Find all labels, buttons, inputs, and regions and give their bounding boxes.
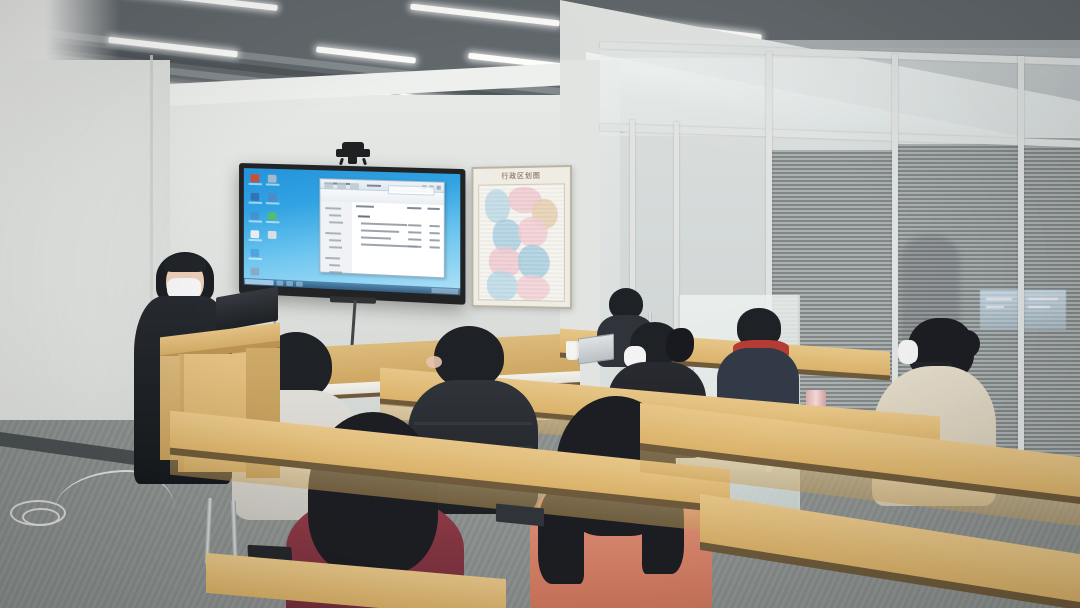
close-icon[interactable] xyxy=(436,185,440,189)
hair-bun xyxy=(954,330,980,358)
folder-icon[interactable] xyxy=(251,211,260,219)
start-button[interactable] xyxy=(245,279,274,285)
hair xyxy=(164,254,206,272)
computer-icon[interactable] xyxy=(251,174,260,182)
tv-screen xyxy=(244,168,460,295)
settings-icon[interactable] xyxy=(268,231,277,239)
media-icon[interactable] xyxy=(251,249,260,257)
ear xyxy=(426,356,442,368)
wall-map-poster: 行政区划图 xyxy=(472,165,572,309)
floor-cable xyxy=(22,508,60,526)
map-title: 行政区划图 xyxy=(473,170,570,183)
wall-mounted-tv xyxy=(239,163,465,305)
training-desk xyxy=(206,566,506,608)
partition-frame-vertical xyxy=(1018,56,1024,476)
app-icon[interactable] xyxy=(268,193,277,201)
ponytail xyxy=(666,328,694,362)
taskbar-item[interactable] xyxy=(296,281,303,286)
map-graphic xyxy=(478,183,565,302)
recycle-bin-icon[interactable] xyxy=(268,175,277,183)
glass-pane-upper xyxy=(600,58,1080,136)
taskbar-item[interactable] xyxy=(277,280,284,285)
taskbar-item[interactable] xyxy=(286,281,293,286)
shortcut-icon[interactable] xyxy=(251,267,260,275)
document-icon[interactable] xyxy=(251,230,260,238)
window-file-list[interactable] xyxy=(352,202,443,277)
video-conference-camera xyxy=(336,142,370,164)
fluorescent-tube-light xyxy=(118,0,278,11)
browser-icon[interactable] xyxy=(251,193,260,201)
training-desk xyxy=(700,524,1080,608)
system-tray[interactable] xyxy=(432,288,459,294)
file-explorer-window[interactable] xyxy=(320,178,445,278)
window-sidebar[interactable] xyxy=(321,201,353,273)
network-icon[interactable] xyxy=(268,212,277,220)
white-ceramic-mug xyxy=(566,341,579,360)
photo-scene: 行政区划图 xyxy=(0,0,1080,608)
fluorescent-tube-light xyxy=(410,4,560,27)
face-mask xyxy=(898,340,918,364)
